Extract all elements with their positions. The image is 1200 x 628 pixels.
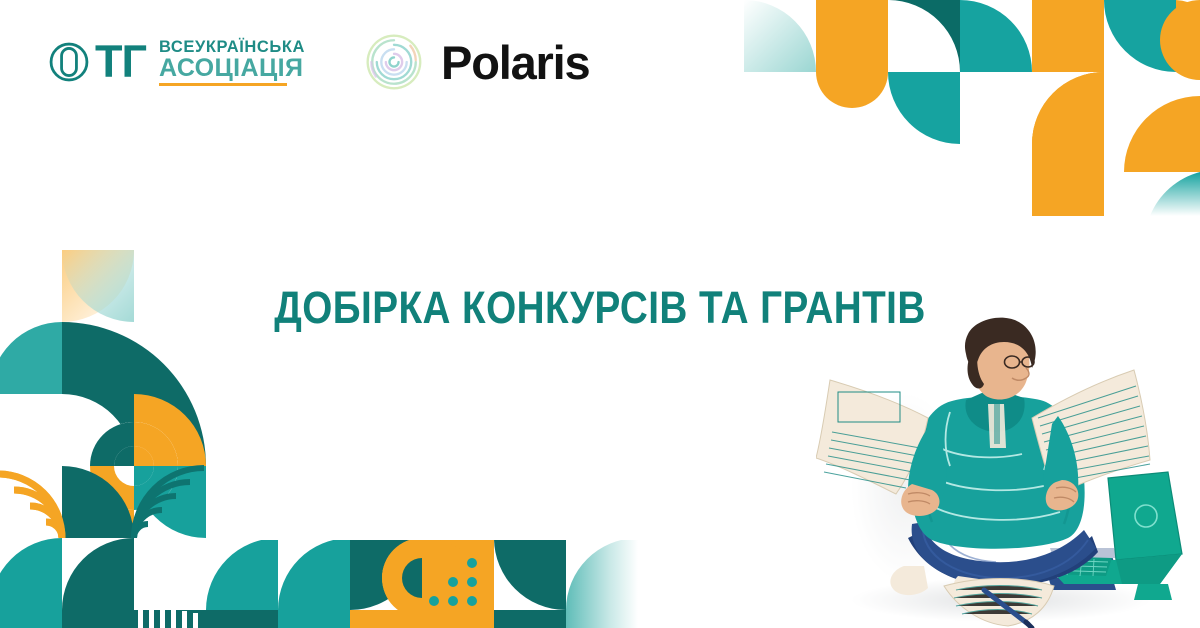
otg-line-2: АСОЦІАЦІЯ [159,56,303,81]
polaris-wordmark: Polaris [441,35,589,90]
logo-bar: ТГ ВСЕУКРАЇНСЬКА АСОЦІАЦІЯ [48,33,589,91]
head [965,318,1036,400]
polaris-logo[interactable]: Polaris [365,33,589,91]
decor-bottom-strip [0,538,638,628]
otg-association-logo[interactable]: ТГ ВСЕУКРАЇНСЬКА АСОЦІАЦІЯ [48,39,305,86]
otg-circle-mark [48,41,90,83]
decor-top-right [744,0,1200,220]
dot-grid [429,558,477,606]
otg-orange-rule [159,83,287,86]
polaris-spiral-mark [365,33,423,91]
otg-wordmark: ВСЕУКРАЇНСЬКА АСОЦІАЦІЯ [159,39,305,86]
stripe-fan-2 [430,610,501,628]
otg-abbreviation: ТГ [95,41,146,83]
stripe-cut [138,610,198,628]
person-reading-documents-illustration [816,308,1200,628]
banner-canvas: ТГ ВСЕУКРАЇНСЬКА АСОЦІАЦІЯ [0,0,1200,628]
stripe-fan [152,610,212,628]
decor-bottom-left-extra [350,610,422,628]
otg-line-1: ВСЕУКРАЇНСЬКА [159,39,305,56]
